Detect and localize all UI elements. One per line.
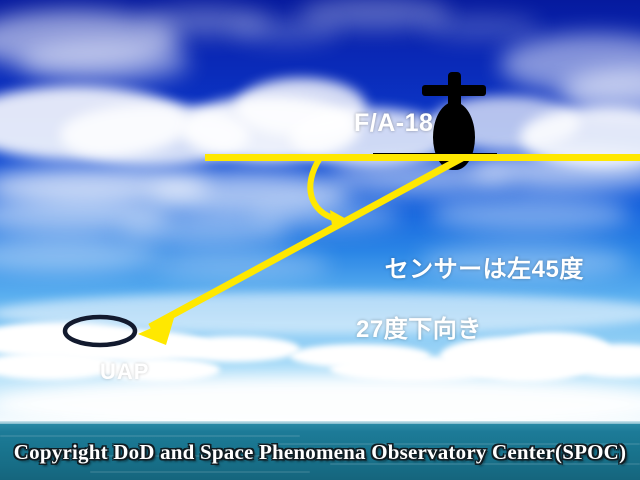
copyright-caption: Copyright DoD and Space Phenomena Observ…	[0, 440, 640, 465]
uap-label: UAP	[100, 358, 149, 386]
sensor-annotation-line-2: 27度下向き	[356, 315, 584, 345]
uap-ellipse-outline	[65, 317, 135, 345]
uap-diagram-image: F/A-18 センサーは左45度 27度下向き UAP Copyright Do…	[0, 0, 640, 480]
sensor-annotation-line-1: センサーは左45度	[385, 256, 584, 283]
wave-line	[90, 471, 310, 473]
aircraft-label: F/A-18	[354, 108, 433, 139]
sensor-annotation-label: センサーは左45度 27度下向き	[356, 225, 584, 405]
wave-line	[0, 435, 300, 437]
